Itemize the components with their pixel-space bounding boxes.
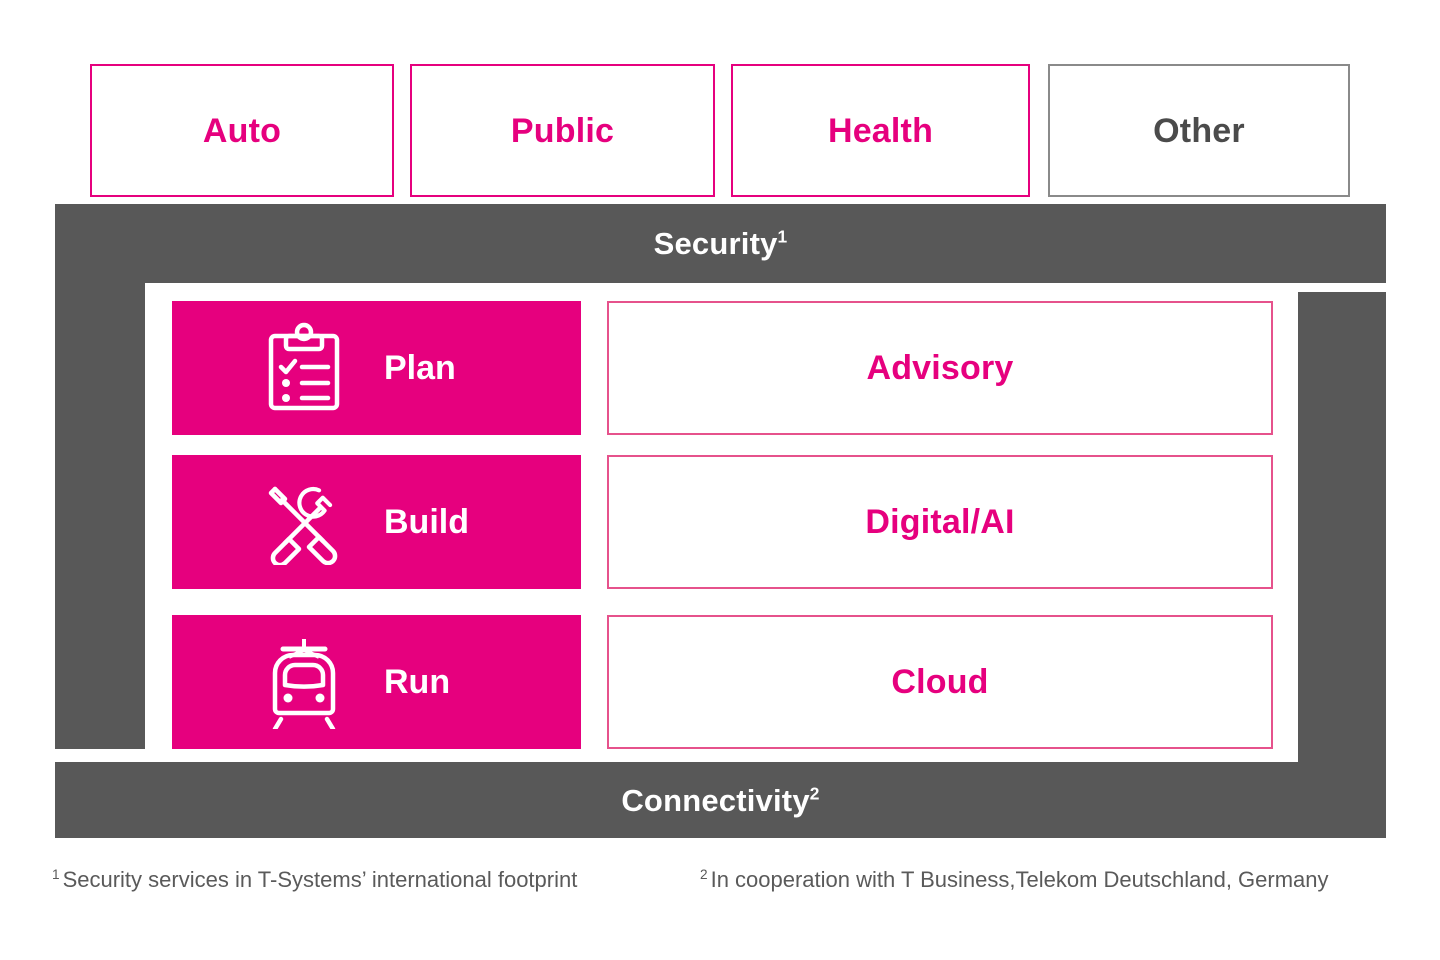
security-bar[interactable]: Security1 xyxy=(55,204,1386,283)
offering-label: Advisory xyxy=(866,351,1013,385)
connectivity-footnote-marker: 2 xyxy=(810,783,820,803)
frame-column-left xyxy=(55,283,145,749)
segment-label: Public xyxy=(511,114,614,148)
capability-label: Plan xyxy=(384,351,456,385)
footnote-1-text: Security services in T-Systems’ internat… xyxy=(63,867,578,892)
segment-label: Other xyxy=(1153,114,1245,148)
offering-label: Digital/AI xyxy=(865,505,1014,539)
capability-run[interactable]: Run xyxy=(172,615,581,749)
offering-advisory[interactable]: Advisory xyxy=(607,301,1273,435)
diagram-canvas: Auto Public Health Other Security1 Conne… xyxy=(0,0,1440,960)
security-footnote-marker: 1 xyxy=(778,227,788,247)
screwdriver-wrench-icon xyxy=(258,472,350,572)
footnote-2-text: In cooperation with T Business,Telekom D… xyxy=(711,867,1329,892)
connectivity-bar[interactable]: Connectivity2 xyxy=(55,762,1386,838)
offering-cloud[interactable]: Cloud xyxy=(607,615,1273,749)
segment-label: Auto xyxy=(203,114,281,148)
segment-box-health[interactable]: Health xyxy=(731,64,1030,197)
connectivity-bar-label: Connectivity2 xyxy=(621,785,819,816)
capability-plan[interactable]: Plan xyxy=(172,301,581,435)
footnote-1-marker: 1 xyxy=(52,867,60,882)
connectivity-bar-text: Connectivity xyxy=(621,783,809,818)
clipboard-checklist-icon xyxy=(258,318,350,418)
capability-label: Run xyxy=(384,665,450,699)
segment-label: Health xyxy=(828,114,933,148)
segment-box-auto[interactable]: Auto xyxy=(90,64,394,197)
segment-box-public[interactable]: Public xyxy=(410,64,715,197)
offering-label: Cloud xyxy=(891,665,988,699)
segment-box-other[interactable]: Other xyxy=(1048,64,1350,197)
footnotes: 1Security services in T-Systems’ interna… xyxy=(52,866,1402,906)
frame-column-right xyxy=(1298,292,1386,763)
offering-digital-ai[interactable]: Digital/AI xyxy=(607,455,1273,589)
capability-label: Build xyxy=(384,505,469,539)
security-bar-label: Security1 xyxy=(654,228,788,259)
security-bar-text: Security xyxy=(654,226,778,261)
footnote-2: 2In cooperation with T Business,Telekom … xyxy=(700,866,1329,894)
capability-build[interactable]: Build xyxy=(172,455,581,589)
tram-icon xyxy=(258,632,350,732)
footnote-2-marker: 2 xyxy=(700,867,708,882)
footnote-1: 1Security services in T-Systems’ interna… xyxy=(52,866,700,894)
